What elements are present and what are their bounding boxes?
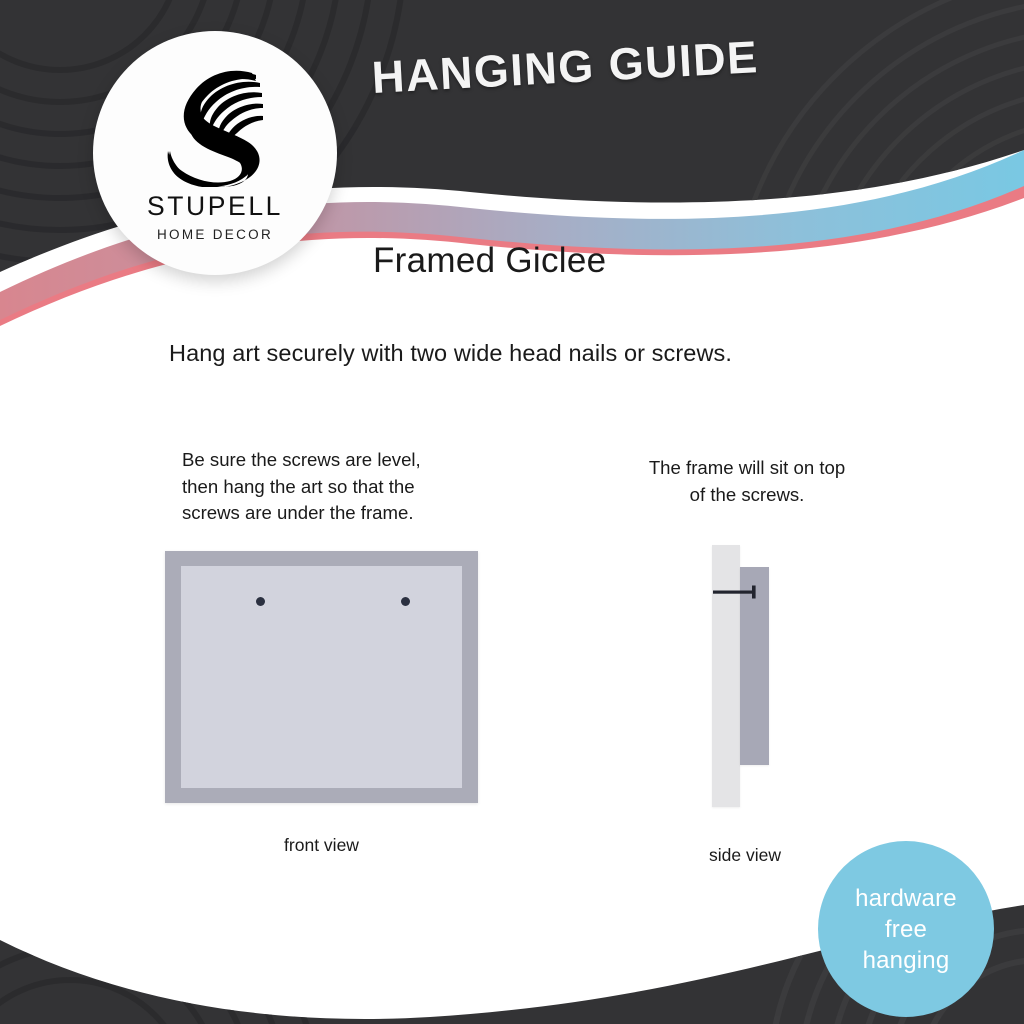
side-view-diagram bbox=[705, 540, 785, 810]
badge-line: hanging bbox=[863, 945, 950, 976]
caption-line: then hang the art so that the bbox=[182, 474, 482, 501]
main-instruction-text: Hang art securely with two wide head nai… bbox=[169, 340, 732, 367]
page-title: HANGING GUIDE bbox=[371, 31, 760, 104]
caption-line: Be sure the screws are level, bbox=[182, 447, 482, 474]
hardware-free-hanging-badge: hardware free hanging bbox=[818, 841, 994, 1017]
product-type-heading: Framed Giclee bbox=[373, 241, 606, 281]
nail-side-icon bbox=[713, 584, 761, 600]
caption-line: The frame will sit on top bbox=[612, 455, 882, 482]
side-view-caption: The frame will sit on top of the screws. bbox=[612, 455, 882, 508]
logo-wordmark: STUPELL bbox=[147, 191, 283, 222]
front-view-diagram bbox=[165, 551, 478, 803]
front-view-mat bbox=[181, 566, 462, 788]
stupell-swirl-s-icon bbox=[156, 59, 274, 187]
badge-line: free bbox=[885, 914, 927, 945]
hanging-guide-page: STUPELL HOME DECOR HANGING GUIDE Framed … bbox=[0, 0, 1024, 1024]
brand-logo-badge: STUPELL HOME DECOR bbox=[93, 31, 337, 275]
front-view-caption: Be sure the screws are level, then hang … bbox=[182, 447, 482, 527]
screw-hole-left-icon bbox=[256, 597, 265, 606]
screw-hole-right-icon bbox=[401, 597, 410, 606]
logo-subwordmark: HOME DECOR bbox=[157, 227, 273, 242]
caption-line: screws are under the frame. bbox=[182, 500, 482, 527]
badge-line: hardware bbox=[855, 883, 957, 914]
side-view-label: side view bbox=[650, 845, 840, 866]
front-view-label: front view bbox=[165, 835, 478, 856]
caption-line: of the screws. bbox=[612, 482, 882, 509]
